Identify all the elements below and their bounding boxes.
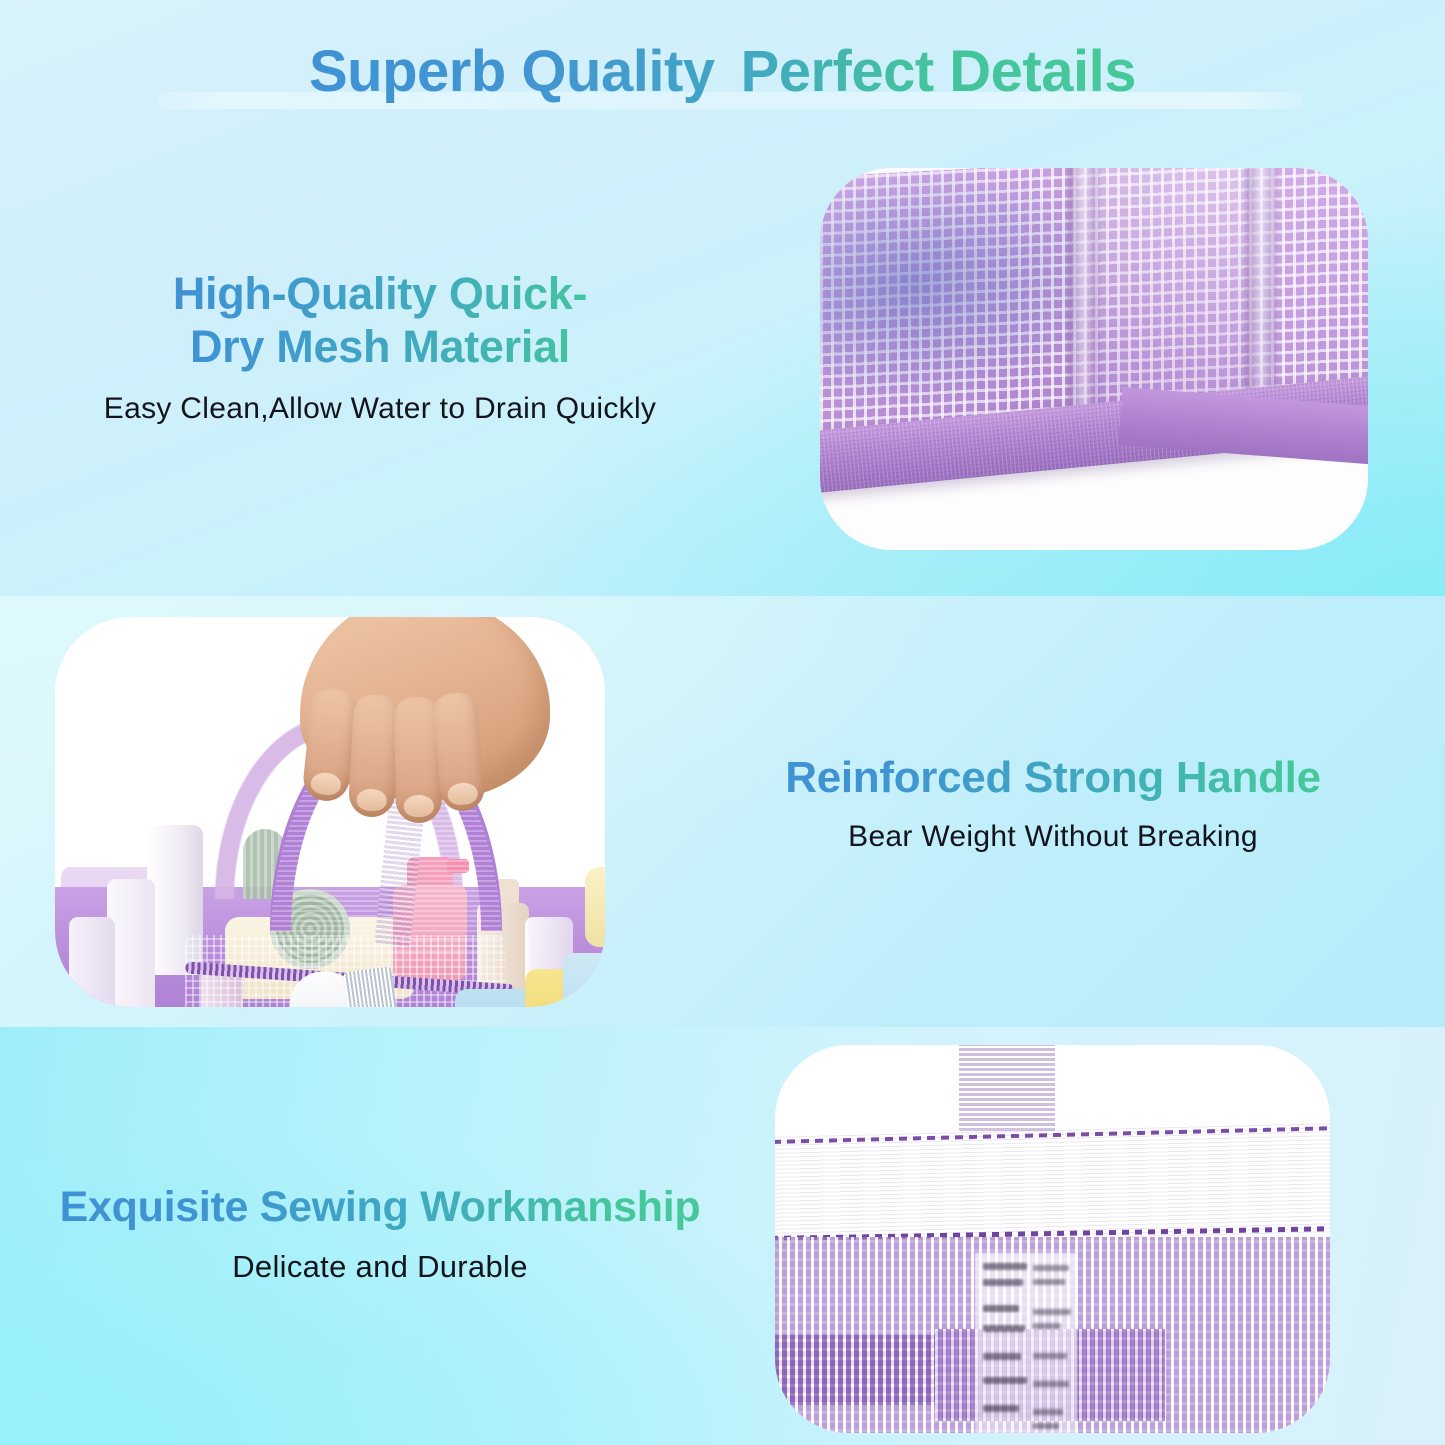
- feature-block-sewing-workmanship: Exquisite Sewing Workmanship Delicate an…: [10, 1182, 750, 1285]
- feature-image-quick-dry-mesh: [820, 168, 1368, 550]
- fingernail-index: [310, 771, 342, 796]
- page-title-part2: Perfect Details: [741, 39, 1136, 104]
- care-label-tag: [975, 1253, 1077, 1433]
- infographic-page: Superb QualityPerfect Details High-Quali…: [0, 0, 1445, 1445]
- fingernail-ring: [404, 795, 434, 818]
- fingernail-middle: [356, 788, 387, 812]
- page-title-part1: Superb Quality: [309, 39, 715, 104]
- feature-heading-line2: Dry Mesh Material: [190, 321, 570, 372]
- feature-image-sewing-workmanship: [775, 1045, 1330, 1433]
- feature-block-strong-handle: Reinforced Strong Handle Bear Weight Wit…: [688, 752, 1418, 855]
- blue-towel-2: [563, 953, 605, 1007]
- feature-heading-sewing-workmanship: Exquisite Sewing Workmanship: [10, 1182, 750, 1232]
- page-title: Superb QualityPerfect Details: [309, 38, 1136, 105]
- page-title-wrapper: Superb QualityPerfect Details: [0, 38, 1445, 105]
- fingernail-little: [447, 782, 479, 807]
- feature-subtext-strong-handle: Bear Weight Without Breaking: [688, 819, 1418, 855]
- mesh-fold-crease-1: [1068, 168, 1098, 433]
- feature-heading-strong-handle: Reinforced Strong Handle: [688, 752, 1418, 803]
- feature-heading-line1: High-Quality Quick-: [173, 268, 587, 319]
- mesh-shadow-left: [775, 1335, 935, 1405]
- webbing-handle-strap: [959, 1045, 1055, 1133]
- finger-middle: [348, 694, 400, 818]
- yellow-sponge: [585, 867, 605, 947]
- feature-subtext-sewing-workmanship: Delicate and Durable: [10, 1248, 750, 1285]
- feature-heading-quick-dry-mesh: High-Quality Quick-Dry Mesh Material: [30, 268, 730, 373]
- feature-block-quick-dry-mesh: High-Quality Quick-Dry Mesh Material Eas…: [30, 268, 730, 427]
- feature-image-strong-handle: [55, 617, 605, 1007]
- feature-subtext-quick-dry-mesh: Easy Clean,Allow Water to Drain Quickly: [30, 391, 730, 427]
- white-bottle-3: [69, 917, 115, 1007]
